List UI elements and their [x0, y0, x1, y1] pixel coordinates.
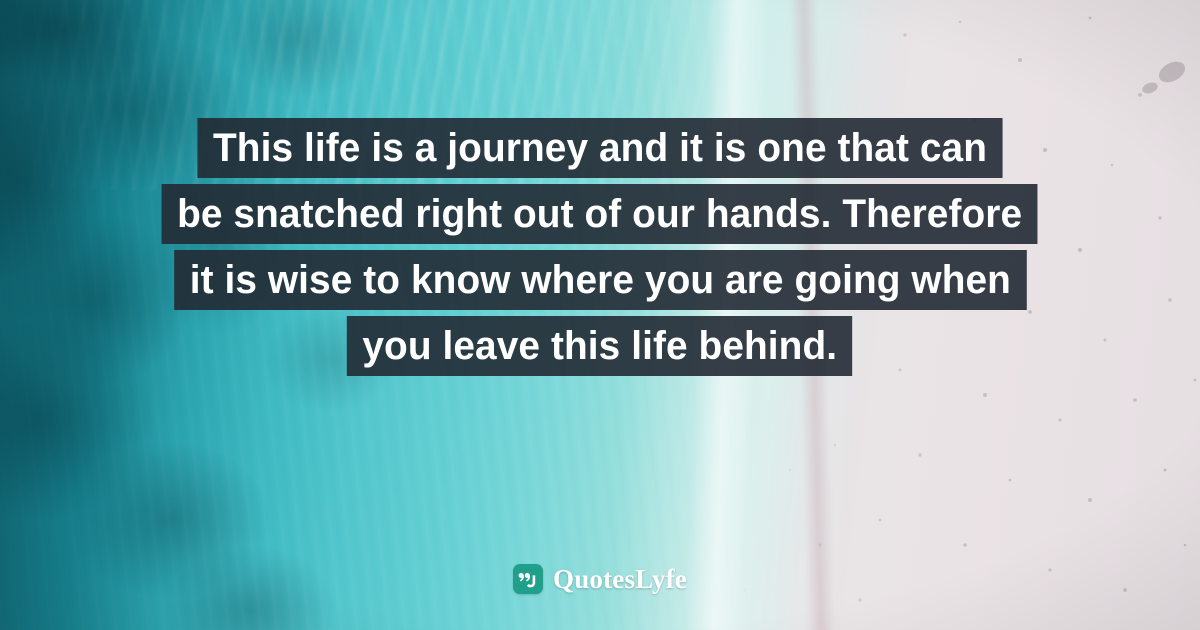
quote-line-3: it is wise to know where you are going w…: [174, 250, 1026, 310]
brand-logo[interactable]: QuotesLyfe: [0, 564, 1200, 594]
quote-card: This life is a journey and it is one tha…: [0, 0, 1200, 630]
quote-block: This life is a journey and it is one tha…: [0, 118, 1200, 382]
quote-line-1: This life is a journey and it is one tha…: [197, 118, 1002, 178]
quote-line-4: you leave this life behind.: [347, 316, 853, 376]
quote-line-2: be snatched right out of our hands. Ther…: [162, 184, 1038, 244]
brand-name: QuotesLyfe: [553, 566, 687, 593]
quote-marks-icon: [513, 564, 543, 594]
